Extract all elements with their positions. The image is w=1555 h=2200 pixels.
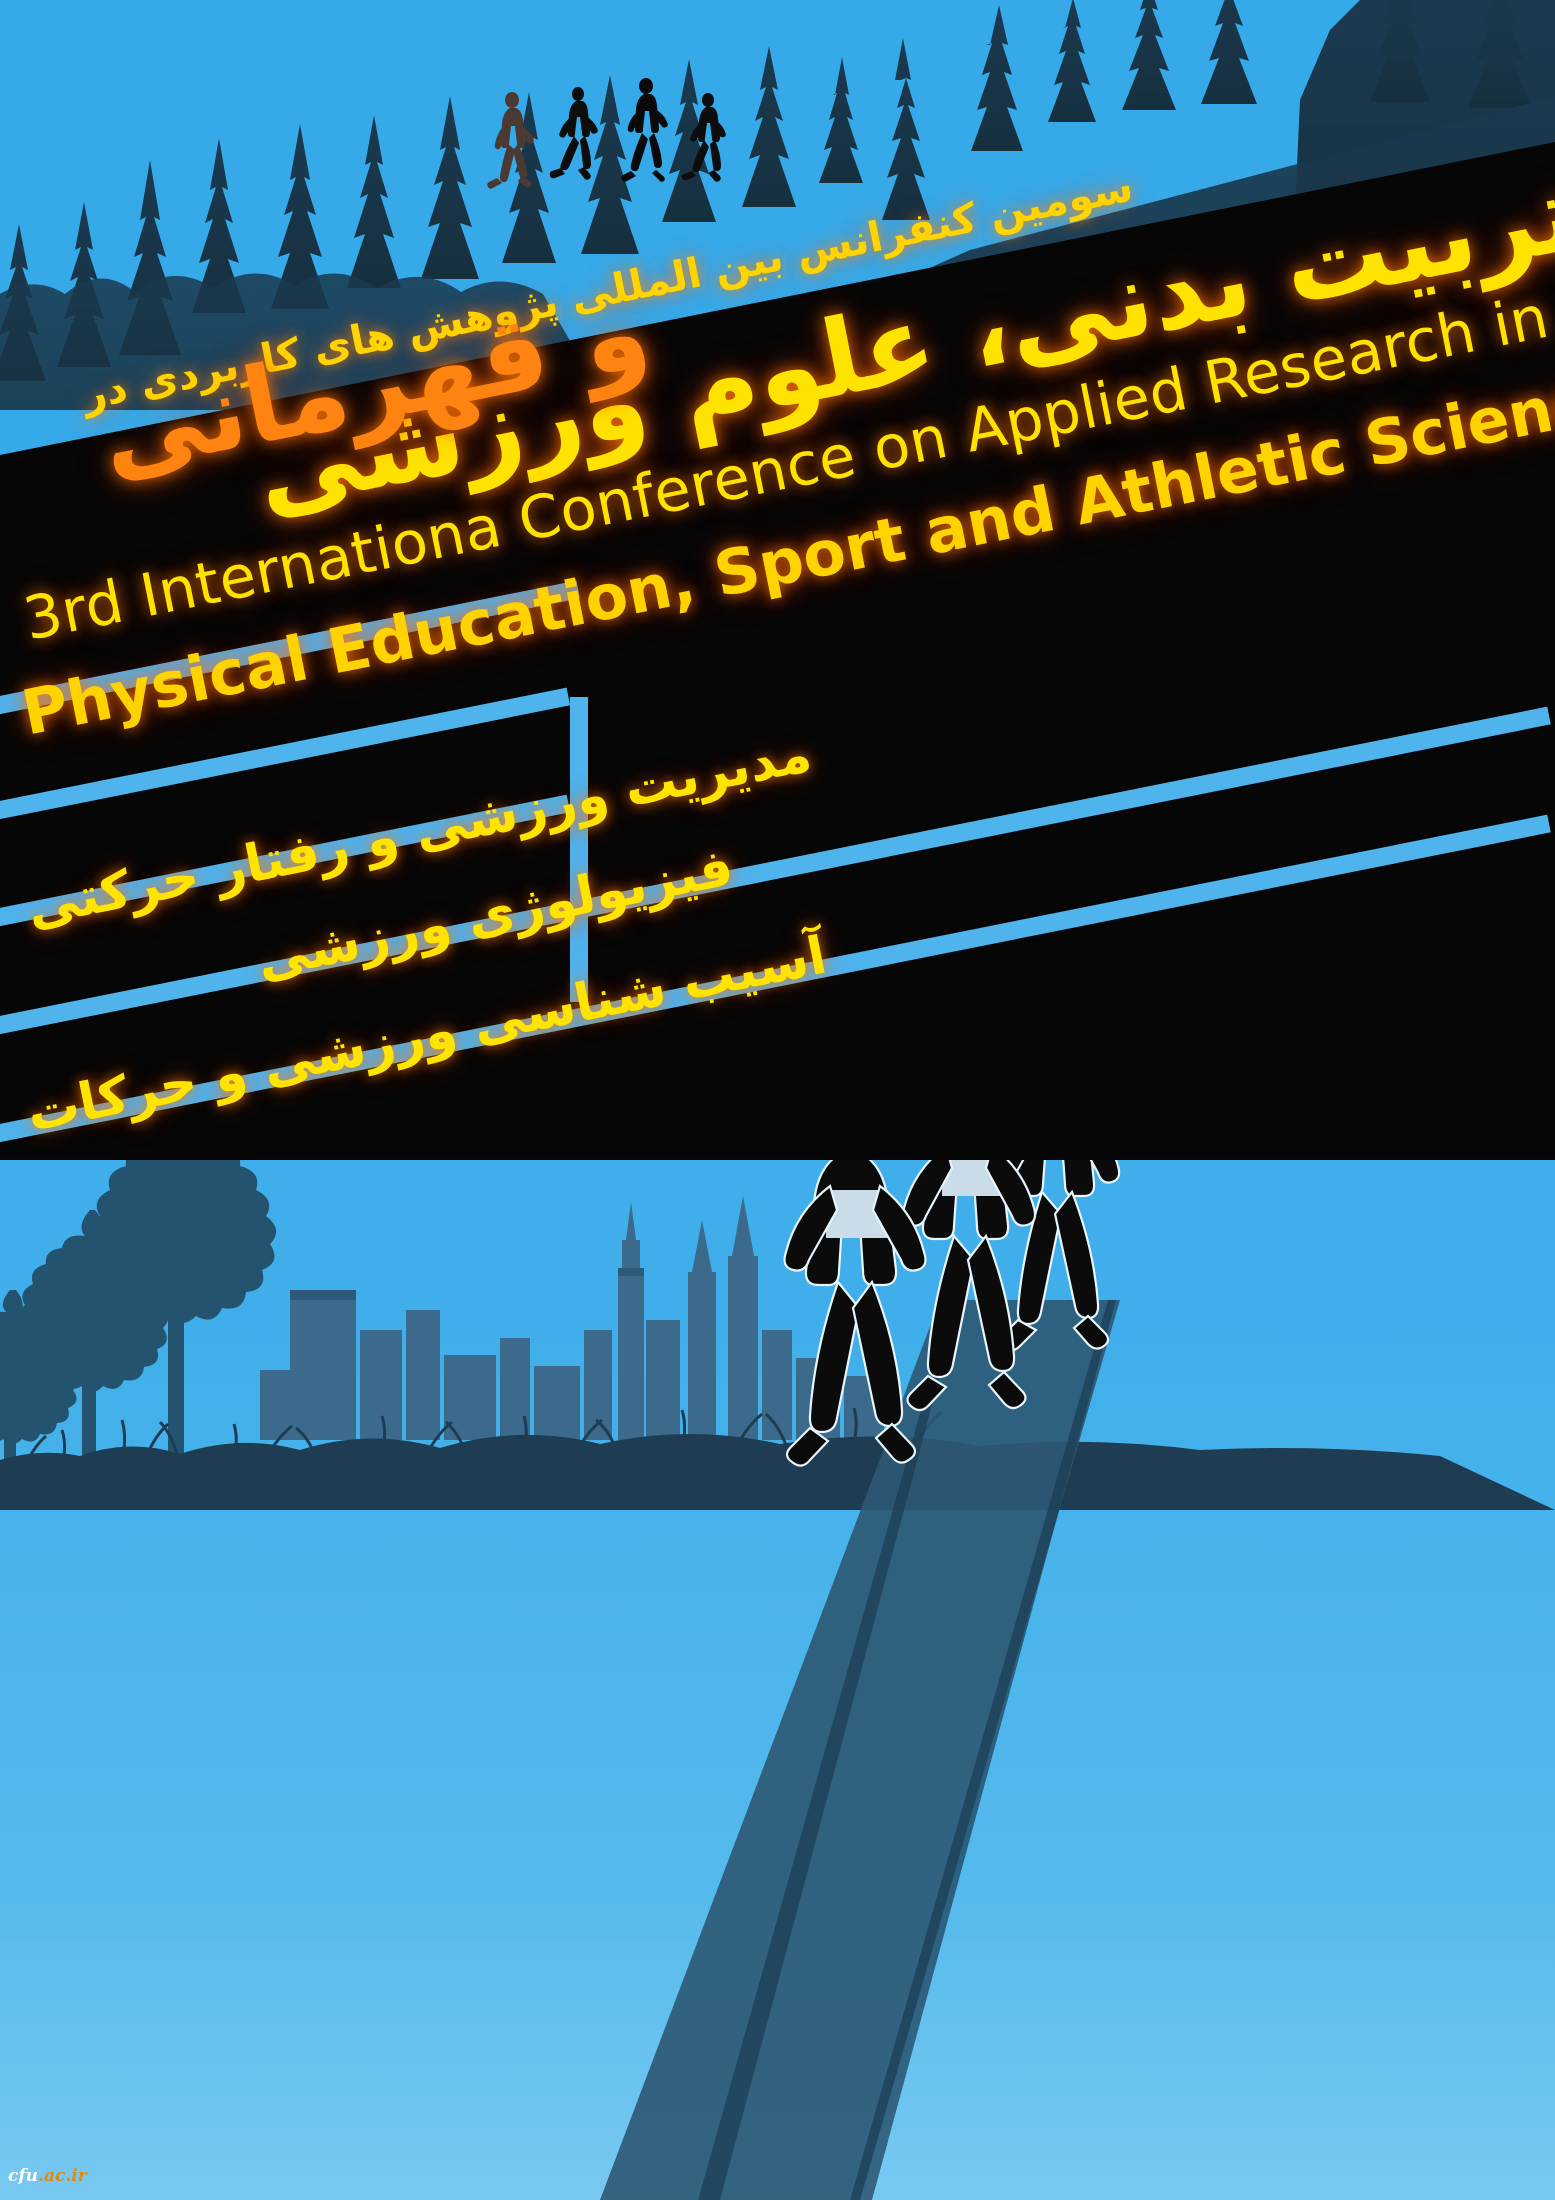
site-watermark: cfu.ac.ir xyxy=(8,2166,87,2186)
watermark-name: cfu xyxy=(8,2166,38,2186)
ridge-runners-silhouette xyxy=(470,78,790,218)
watermark-domain: .ac.ir xyxy=(38,2166,87,2186)
poster-canvas: سومین کنفرانس بین المللی پژوهش های کاربر… xyxy=(0,0,1555,2200)
topic-window-right-edge xyxy=(570,697,588,1002)
